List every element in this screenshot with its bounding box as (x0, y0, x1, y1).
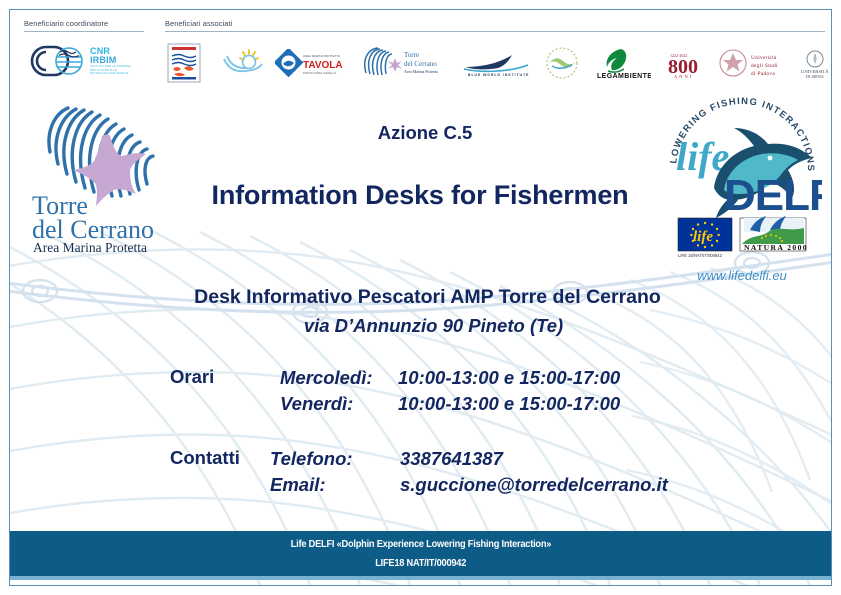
page-title: Information Desks for Fishermen (160, 180, 680, 211)
unibo-800-anni-logo: 1222-2022 800 ANNI (668, 49, 716, 79)
svg-text:LEGAMBIENTE: LEGAMBIENTE (597, 73, 651, 79)
opening-hours-label: Orari (170, 365, 280, 388)
lifedelfi-website-link[interactable]: www.lifedelfi.eu (662, 268, 822, 283)
delfi-word: DELFI (724, 171, 822, 220)
natura-2000-badge: NATURA 2000 (740, 216, 808, 252)
opening-hours-row: Mercoledì: 10:00-13:00 e 15:00-17:00 (280, 365, 831, 391)
torre-logo-line3: Area Marina Protetta (33, 240, 147, 254)
contacts-rows: Telefono: 3387641387 Email: s.guccione@t… (270, 446, 831, 499)
svg-text:BLUE WORLD INSTITUTE: BLUE WORLD INSTITUTE (468, 73, 529, 77)
action-title: Azione C.5 (200, 122, 650, 144)
amp-tavolara-logo: AREA MARINA PROTETTA TAVOLARA PUNTA CODA… (275, 49, 343, 77)
cnr-subtitle: ISTITUTO PER LE RISORSE BIOLOGICHE E LE … (90, 65, 142, 76)
sun-wave-logo (220, 47, 266, 79)
partners-rule (165, 31, 825, 32)
email-value[interactable]: s.guccione@torredelcerrano.it (400, 472, 668, 498)
contacts-label: Contatti (170, 446, 270, 469)
svg-text:NATURA 2000: NATURA 2000 (744, 243, 808, 252)
svg-text:TAVOLARA: TAVOLARA (303, 60, 343, 71)
svg-text:di Padova: di Padova (751, 71, 775, 77)
email-label: Email: (270, 472, 400, 498)
svg-text:ANNI: ANNI (674, 74, 693, 79)
blue-world-institute-logo: BLUE WORLD INSTITUTE (458, 51, 536, 77)
svg-text:PUNTA CODA CAVALLO: PUNTA CODA CAVALLO (303, 71, 337, 75)
opening-hours-row: Venerdì: 10:00-13:00 e 15:00-17:00 (280, 391, 831, 417)
universita-di-siena-logo: UNIVERSITÀ DI SIENA (798, 49, 832, 79)
phone-value[interactable]: 3387641387 (400, 446, 503, 472)
svg-text:degli Studi: degli Studi (751, 63, 778, 69)
torre-del-cerrano-small-logo: Torre del Cerrano Area Marina Protetta (360, 45, 438, 79)
hours-time-value: 10:00-13:00 e 15:00-17:00 (398, 391, 620, 417)
contacts-group: Contatti Telefono: 3387641387 Email: s.g… (170, 446, 831, 499)
svg-text:DI SIENA: DI SIENA (806, 74, 824, 79)
contacts-row: Email: s.guccione@torredelcerrano.it (270, 472, 831, 498)
footer-project-title: Life DELFI «Dolphin Experience Lowering … (290, 538, 550, 550)
footer-bar: Life DELFI «Dolphin Experience Lowering … (10, 531, 831, 580)
contacts-row: Telefono: 3387641387 (270, 446, 831, 472)
hours-day-label: Venerdì: (280, 391, 398, 417)
svg-text:del Cerrano: del Cerrano (404, 60, 437, 68)
coordinator-label: Beneficiario coordinatore (24, 19, 108, 30)
cnr-irbim-logo: CNR IRBIM ISTITUTO PER LE RISORSE BIOLOG… (24, 41, 144, 81)
hours-time-value: 10:00-13:00 e 15:00-17:00 (398, 365, 620, 391)
footer-project-code: LIFE18 NAT/IT/000942 (375, 557, 466, 569)
regione-marche-logo (167, 43, 201, 83)
content-block: Desk Informativo Pescatori AMP Torre del… (10, 286, 831, 498)
torre-del-cerrano-logo: Torre del Cerrano Area Marina Protetta (26, 96, 191, 254)
svg-text:AREA MARINA PROTETTA: AREA MARINA PROTETTA (303, 54, 340, 58)
life-delfi-logo: LOWERING FISHING INTERACTIONS life DELFI (662, 92, 822, 264)
partners-label: Beneficiari associati (165, 19, 232, 30)
hours-day-label: Mercoledì: (280, 365, 398, 391)
desk-address: via D’Annunzio 90 Pineto (Te) (36, 315, 831, 337)
legambiente-logo: LEGAMBIENTE (595, 47, 651, 79)
svg-text:Area Marina Protetta: Area Marina Protetta (404, 69, 438, 74)
svg-text:LIFE 18/NAT/IT/000942: LIFE 18/NAT/IT/000942 (678, 253, 723, 258)
svg-text:life: life (693, 229, 713, 245)
universita-di-padova-logo: Università degli Studi di Padova (718, 47, 796, 79)
slide-canvas: Beneficiario coordinatore Beneficiari as… (0, 0, 841, 595)
opening-hours-rows: Mercoledì: 10:00-13:00 e 15:00-17:00 Ven… (280, 365, 831, 418)
svg-text:Torre: Torre (404, 51, 419, 59)
coordinator-rule (24, 31, 144, 32)
phone-label: Telefono: (270, 446, 400, 472)
opening-hours-group: Orari Mercoledì: 10:00-13:00 e 15:00-17:… (170, 365, 831, 418)
svg-text:Università: Università (751, 55, 777, 61)
filicudi-wildlife-logo (540, 45, 584, 81)
desk-heading: Desk Informativo Pescatori AMP Torre del… (24, 286, 831, 309)
eu-life-badge: life LIFE 18/NAT/IT/000942 (678, 218, 732, 258)
partner-logo-bar: Beneficiario coordinatore Beneficiari as… (10, 11, 831, 91)
